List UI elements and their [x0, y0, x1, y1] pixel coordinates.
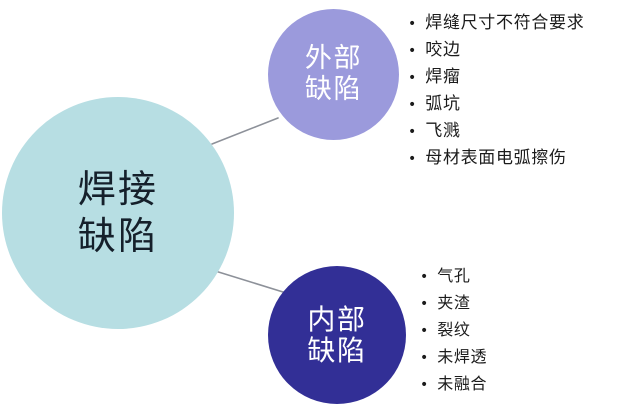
bullet-icon: • — [408, 44, 416, 58]
list-item-label: 裂纹 — [437, 316, 470, 340]
bullet-icon: • — [420, 297, 428, 311]
list-item-label: 弧坑 — [425, 89, 460, 114]
node-external-defects[interactable]: 外部 缺陷 — [268, 9, 399, 140]
node-internal-defects-label-line2: 缺陷 — [307, 335, 366, 366]
list-item: • 飞溅 — [408, 116, 584, 143]
list-item: • 焊缝尺寸不符合要求 — [408, 8, 584, 35]
node-external-defects-label-line1: 外部 — [305, 44, 362, 74]
bullet-icon: • — [408, 17, 416, 31]
bullet-icon: • — [408, 125, 416, 139]
list-item-label: 未融合 — [437, 370, 487, 394]
list-item: • 未焊透 — [420, 343, 487, 370]
list-item: • 夹渣 — [420, 289, 487, 316]
bullet-icon: • — [420, 324, 428, 338]
list-item-label: 飞溅 — [425, 116, 460, 141]
list-item-label: 母材表面电弧擦伤 — [425, 143, 566, 168]
list-item: • 裂纹 — [420, 316, 487, 343]
node-external-defects-label-line2: 缺陷 — [305, 75, 362, 105]
diagram-canvas: 焊接 缺陷 外部 缺陷 内部 缺陷 • 焊缝尺寸不符合要求 • 咬边 • 焊瘤 … — [0, 0, 640, 418]
bullet-icon: • — [420, 270, 428, 284]
list-item-label: 咬边 — [425, 35, 460, 60]
external-defects-list: • 焊缝尺寸不符合要求 • 咬边 • 焊瘤 • 弧坑 • 飞溅 • 母材表面电弧… — [408, 8, 584, 170]
node-welding-defects-label-line2: 缺陷 — [78, 215, 159, 258]
list-item-label: 未焊透 — [437, 343, 487, 367]
bullet-icon: • — [420, 378, 428, 392]
bullet-icon: • — [408, 71, 416, 85]
internal-defects-list: • 气孔 • 夹渣 • 裂纹 • 未焊透 • 未融合 — [420, 262, 487, 397]
bullet-icon: • — [408, 152, 416, 166]
node-internal-defects[interactable]: 内部 缺陷 — [268, 266, 406, 404]
connector-root-to-external — [212, 118, 278, 144]
list-item-label: 焊瘤 — [425, 62, 460, 87]
list-item: • 咬边 — [408, 35, 584, 62]
list-item: • 母材表面电弧擦伤 — [408, 143, 584, 170]
list-item-label: 夹渣 — [437, 289, 470, 313]
connector-root-to-internal — [212, 270, 283, 292]
bullet-icon: • — [420, 351, 428, 365]
list-item-label: 焊缝尺寸不符合要求 — [425, 8, 584, 33]
list-item-label: 气孔 — [437, 262, 470, 286]
node-welding-defects-label-line1: 焊接 — [78, 168, 159, 211]
node-internal-defects-label-line1: 内部 — [307, 304, 366, 335]
bullet-icon: • — [408, 98, 416, 112]
list-item: • 未融合 — [420, 370, 487, 397]
list-item: • 气孔 — [420, 262, 487, 289]
list-item: • 弧坑 — [408, 89, 584, 116]
list-item: • 焊瘤 — [408, 62, 584, 89]
node-welding-defects[interactable]: 焊接 缺陷 — [2, 97, 234, 329]
